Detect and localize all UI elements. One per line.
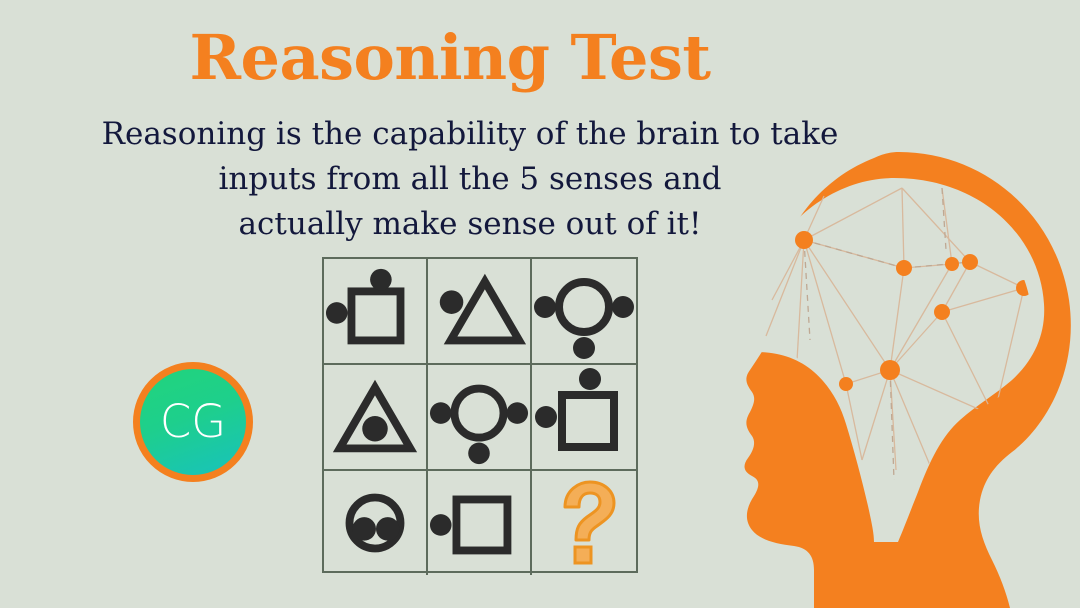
brain-network-head — [694, 140, 1080, 608]
puzzle-cell-r2c1[interactable] — [324, 365, 428, 471]
puzzle-cell-r1c3[interactable] — [532, 259, 636, 365]
reasoning-matrix-grid — [322, 257, 638, 573]
cg-logo-badge[interactable]: CG — [133, 362, 253, 482]
question-mark-icon — [565, 482, 614, 563]
puzzle-cell-r1c1[interactable] — [324, 259, 428, 365]
head-silhouette — [745, 152, 1071, 608]
cg-logo-label: CG — [160, 399, 226, 444]
puzzle-cell-r3c2[interactable] — [428, 471, 532, 575]
puzzle-cell-r2c3[interactable] — [532, 365, 636, 471]
puzzle-cell-r1c2[interactable] — [428, 259, 532, 365]
slide-canvas: Reasoning Test Reasoning is the capabili… — [0, 0, 1080, 608]
page-title: Reasoning Test — [0, 22, 900, 94]
puzzle-cell-r2c2[interactable] — [428, 365, 532, 471]
puzzle-cell-r3c1[interactable] — [324, 471, 428, 575]
puzzle-cell-r3c3-answer[interactable] — [532, 471, 636, 575]
